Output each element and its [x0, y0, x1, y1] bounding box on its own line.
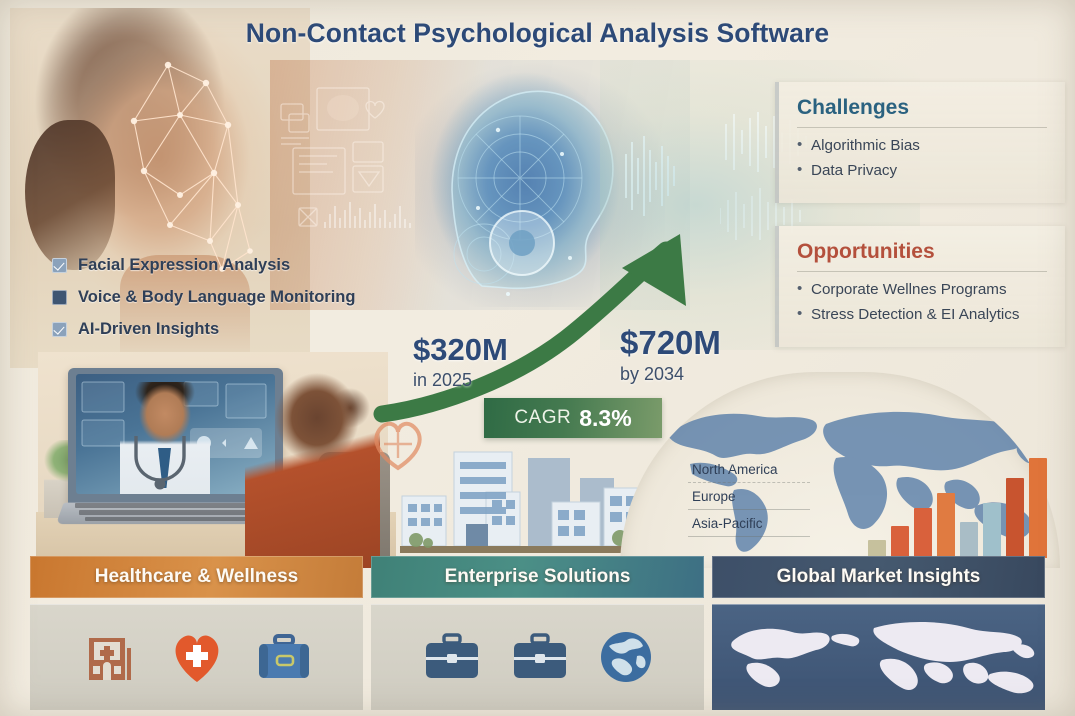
checkbox-filled-icon[interactable] [52, 290, 67, 305]
enterprise-icon-panel [371, 604, 704, 710]
challenges-heading: Challenges [797, 96, 1047, 120]
medical-bag-icon [255, 632, 313, 682]
category-icon-row [30, 604, 1045, 710]
feature-item[interactable]: Facial Expression Analysis [52, 252, 355, 278]
market-start-amount: $320M [413, 334, 508, 365]
market-start-year: in 2025 [413, 370, 508, 391]
region-item[interactable]: Europe [688, 483, 810, 510]
healthcare-icon-panel [30, 604, 363, 710]
cagr-label: CAGR [514, 407, 571, 429]
patient-avatar [245, 368, 380, 568]
globe-icon [599, 630, 653, 684]
feature-item[interactable]: AI-Driven Insights [52, 316, 355, 342]
stethoscope-icon [126, 432, 196, 490]
global-map-panel [712, 604, 1045, 710]
briefcase-icon [511, 632, 569, 682]
briefcase-icon [423, 632, 481, 682]
cagr-badge: CAGR 8.3% [484, 398, 662, 438]
list-item: Corporate Wellnes Programs [797, 281, 1047, 298]
category-bar-global[interactable]: Global Market Insights [712, 556, 1045, 598]
region-item[interactable]: North America [688, 456, 810, 483]
infographic-poster: Non-Contact Psychological Analysis Softw… [0, 0, 1075, 716]
market-end-amount: $720M [620, 326, 721, 359]
list-item: Data Privacy [797, 162, 1047, 179]
category-bar-healthcare[interactable]: Healthcare & Wellness [30, 556, 363, 598]
feature-label: Voice & Body Language Monitoring [78, 288, 355, 307]
chart-bar [914, 508, 932, 558]
portrait-hair [25, 120, 115, 270]
feature-label: Facial Expression Analysis [78, 256, 290, 275]
divider [797, 127, 1047, 128]
feature-item[interactable]: Voice & Body Language Monitoring [52, 284, 355, 310]
feature-label: AI-Driven Insights [78, 320, 219, 339]
cagr-value: 8.3% [579, 405, 631, 432]
opportunities-card: Opportunities Corporate Wellnes Programs… [775, 226, 1065, 347]
market-bar-chart [868, 448, 1048, 558]
market-value-end: $720M by 2034 [620, 326, 721, 385]
region-item[interactable]: Asia-Pacific [688, 510, 810, 537]
opportunities-list: Corporate Wellnes Programs Stress Detect… [797, 281, 1047, 323]
list-item: Algorithmic Bias [797, 137, 1047, 154]
checkbox-checked-icon[interactable] [52, 322, 67, 337]
page-title: Non-Contact Psychological Analysis Softw… [0, 18, 1075, 49]
category-bar-enterprise[interactable]: Enterprise Solutions [371, 556, 704, 598]
category-bar-row: Healthcare & Wellness Enterprise Solutio… [30, 556, 1045, 598]
challenges-card: Challenges Algorithmic Bias Data Privacy [775, 82, 1065, 203]
city-skyline-icon [400, 440, 650, 560]
feature-list: Facial Expression Analysis Voice & Body … [52, 252, 355, 348]
heart-cross-icon [169, 630, 225, 684]
region-legend: North America Europe Asia-Pacific [688, 456, 810, 537]
chart-bar [960, 522, 978, 558]
market-value-start: $320M in 2025 [413, 334, 508, 391]
chart-bar [1006, 478, 1024, 558]
chart-bar [983, 503, 1001, 558]
challenges-list: Algorithmic Bias Data Privacy [797, 137, 1047, 179]
opportunities-heading: Opportunities [797, 240, 1047, 264]
checkbox-checked-icon[interactable] [52, 258, 67, 273]
chart-bar [891, 526, 909, 558]
divider [797, 271, 1047, 272]
chart-bar [937, 493, 955, 558]
world-map-icon [714, 616, 1044, 698]
list-item: Stress Detection & EI Analytics [797, 306, 1047, 323]
market-end-year: by 2034 [620, 364, 721, 385]
keyboard-keys-icon [75, 503, 265, 521]
hospital-icon [81, 628, 139, 686]
chart-bar [1029, 458, 1047, 558]
